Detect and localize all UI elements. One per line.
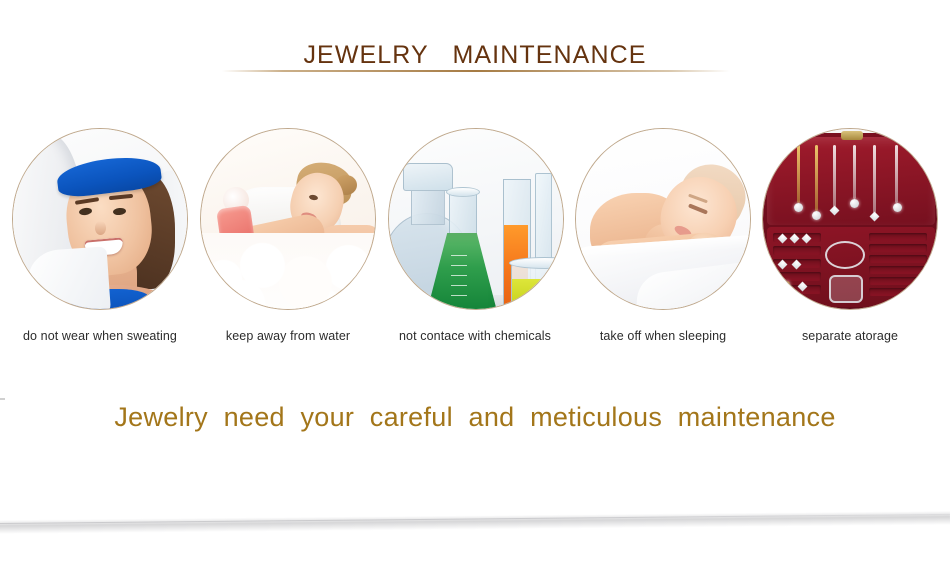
title-divider — [222, 70, 730, 72]
tip-item-3[interactable] — [388, 128, 564, 310]
jewelry-maintenance-banner: JEWELRY MAINTENANCE — [0, 0, 950, 570]
page-title: JEWELRY MAINTENANCE — [0, 40, 950, 70]
tip-caption-1: do not wear when sweating — [0, 329, 200, 343]
tip-image-circle-2 — [200, 128, 376, 310]
maintenance-tips-row — [0, 128, 950, 313]
jewelry-box-storage-photo-icon — [763, 129, 937, 309]
footer-tagline: Jewelry need your careful and meticulous… — [0, 400, 950, 434]
tip-caption-2: keep away from water — [188, 329, 388, 343]
tip-caption-4: take off when sleeping — [563, 329, 763, 343]
tip-item-2[interactable] — [200, 128, 376, 310]
woman-in-bubble-bath-photo-icon — [201, 129, 375, 309]
tip-image-circle-4 — [575, 128, 751, 310]
tip-image-circle-5 — [762, 128, 938, 310]
tip-image-circle-1 — [12, 128, 188, 310]
page-title-wrap: JEWELRY MAINTENANCE — [0, 40, 950, 70]
tip-image-circle-3 — [388, 128, 564, 310]
tip-item-4[interactable] — [575, 128, 751, 310]
tip-item-5[interactable] — [762, 128, 938, 310]
left-edge-mark — [0, 398, 5, 400]
woman-sleeping-photo-icon — [576, 129, 750, 309]
tip-caption-3: not contace with chemicals — [375, 329, 575, 343]
tip-item-1[interactable] — [12, 128, 188, 310]
laboratory-glassware-chemicals-photo-icon — [389, 129, 563, 309]
tip-caption-5: separate atorage — [750, 329, 950, 343]
woman-with-towel-sweating-photo-icon — [13, 129, 187, 309]
